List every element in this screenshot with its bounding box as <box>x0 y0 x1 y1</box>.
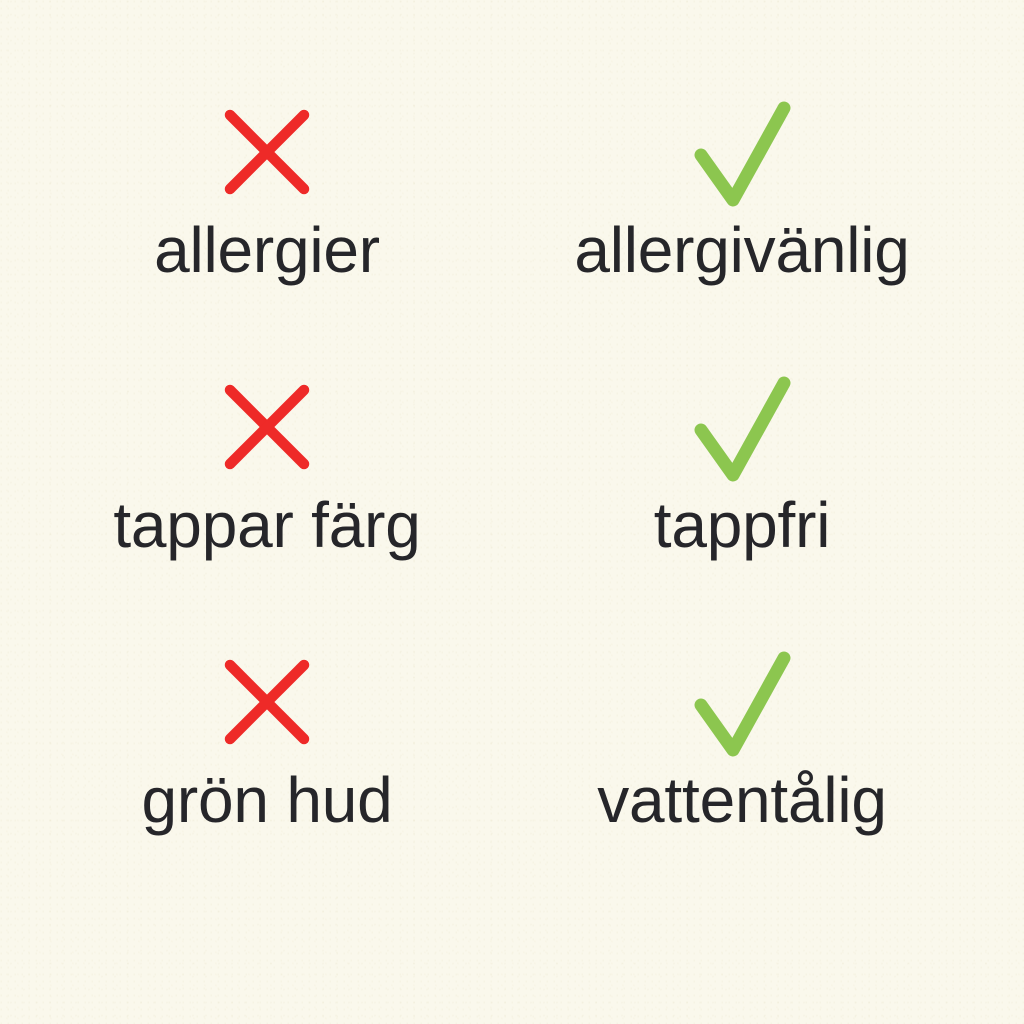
comparison-cell-negative-1: allergier <box>37 104 497 282</box>
comparison-label-positive-2: tappfri <box>512 493 972 557</box>
comparison-label-positive-3: vattentålig <box>512 768 972 832</box>
comparison-label-positive-1: allergivänlig <box>512 218 972 282</box>
check-icon <box>512 654 972 750</box>
check-icon <box>512 379 972 475</box>
comparison-label-negative-2: tappar färg <box>37 493 497 557</box>
comparison-cell-positive-3: vattentålig <box>512 654 972 832</box>
cross-icon <box>37 379 497 475</box>
comparison-label-negative-1: allergier <box>37 218 497 282</box>
comparison-cell-negative-2: tappar färg <box>37 379 497 557</box>
comparison-cell-positive-2: tappfri <box>512 379 972 557</box>
image-canvas: allergier allergivänlig tappar färg <box>0 0 1024 1024</box>
comparison-cell-positive-1: allergivänlig <box>512 104 972 282</box>
cross-icon <box>37 654 497 750</box>
comparison-cell-negative-3: grön hud <box>37 654 497 832</box>
check-icon <box>512 104 972 200</box>
comparison-grid: allergier allergivänlig tappar färg <box>0 0 1024 1024</box>
cross-icon <box>37 104 497 200</box>
comparison-label-negative-3: grön hud <box>37 768 497 832</box>
